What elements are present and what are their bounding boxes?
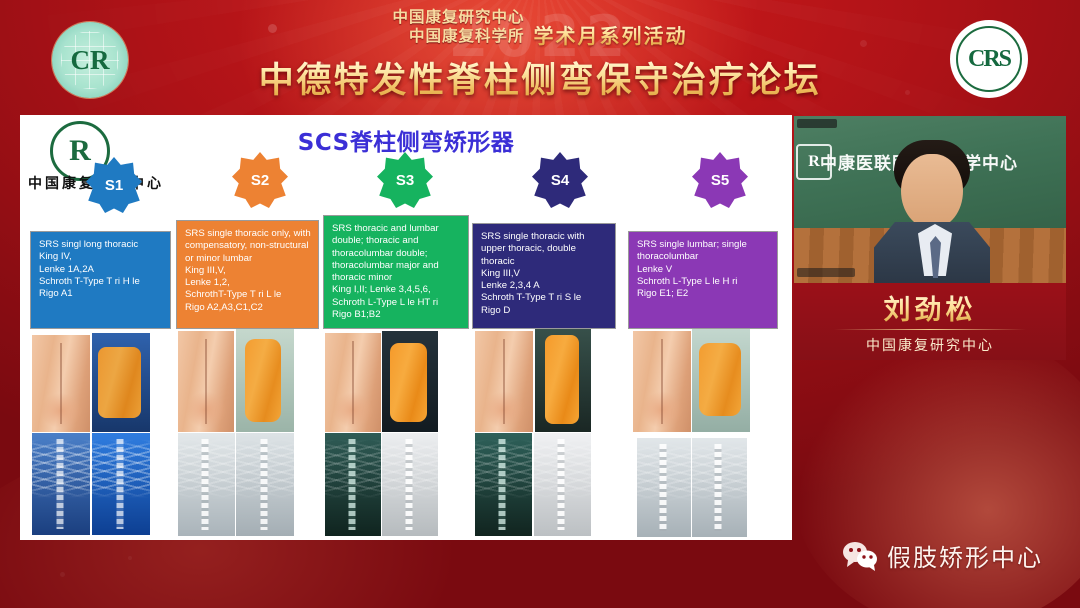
spine-xray-photo	[32, 433, 90, 535]
gear-label-s5: S5	[711, 172, 729, 189]
card-line: King I,II; Lenke 3,4,5,6,	[332, 284, 461, 296]
classification-card-s3: SRS thoracic and lumbar double; thoracic…	[323, 215, 469, 329]
video-overlay-badge-bottomleft	[797, 268, 855, 277]
card-line: thoracolumbar	[637, 251, 770, 263]
braced-scan-photo	[92, 333, 150, 432]
card-line: Schroth L-Type L le HT ri	[332, 297, 461, 309]
spine-xray-photo	[178, 433, 235, 536]
presentation-slide[interactable]: R 中国康复研究中心 SCS脊柱侧弯矫形器 S1 S2 S3 S4 S5 SRS…	[20, 115, 792, 540]
video-overlay-badge-topleft	[797, 119, 837, 128]
spine-xray-photo	[475, 433, 532, 536]
torso-scan-photo	[178, 331, 234, 432]
watermark-text: 假肢矫形中心	[887, 538, 1043, 573]
bokeh-dot	[128, 556, 132, 560]
slide-title: SCS脊柱侧弯矫形器	[20, 123, 792, 157]
spine-xray-photo	[236, 433, 294, 536]
card-line: Rigo A1	[39, 288, 163, 300]
gear-badge-s2: S2	[232, 152, 288, 208]
header-org-line1: 中国康复研究中心	[392, 8, 524, 27]
card-line: Rigo E1; E2	[637, 288, 770, 300]
gear-label-s1: S1	[105, 177, 123, 194]
speaker-affiliation: 中国康复研究中心	[794, 335, 1066, 355]
board-logo-monogram: R	[808, 153, 820, 171]
card-line: King III,V	[481, 268, 608, 280]
card-line: King IV,	[39, 251, 163, 263]
card-line: Schroth L-Type L le H ri	[637, 276, 770, 288]
classification-card-s1: SRS singl long thoracic King IV, Lenke 1…	[30, 231, 171, 329]
braced-scan-photo	[535, 329, 591, 432]
card-line: compensatory, non-structural	[185, 240, 311, 252]
card-line: Lenke 1,2,	[185, 277, 311, 289]
header-subtitle-row: 中国康复研究中心 中国康复科学所 学术月系列活动	[0, 8, 1080, 49]
card-line: Lenke V	[637, 264, 770, 276]
spine-xray-photo	[534, 433, 591, 536]
card-line: Schroth T-Type T ri H le	[39, 276, 163, 288]
card-line: or minor lumbar	[185, 253, 311, 265]
card-line: SRS singl long thoracic	[39, 239, 163, 251]
card-line: Rigo D	[481, 305, 608, 317]
card-line: double; thoracic and	[332, 235, 461, 247]
card-line: SRS single thoracic with	[481, 231, 608, 243]
torso-scan-photo	[32, 335, 90, 432]
face-shape	[901, 154, 963, 228]
screen-root: 2022 CR CRS 中国康复研究中心 中国康复科学所 学术月系列活动 中德特…	[0, 0, 1080, 608]
torso-scan-photo	[325, 333, 381, 432]
card-line: Rigo A2,A3,C1,C2	[185, 302, 311, 314]
card-line: Lenke 1A,2A	[39, 264, 163, 276]
speaker-name: 刘劲松	[794, 288, 1066, 327]
event-title: 中德特发性脊柱侧弯保守治疗论坛	[0, 52, 1080, 103]
gear-label-s4: S4	[551, 172, 569, 189]
card-line: thoracic minor	[332, 272, 461, 284]
speaker-portrait	[880, 140, 984, 283]
card-line: SRS single thoracic only, with	[185, 228, 311, 240]
braced-scan-photo	[382, 331, 438, 432]
card-line: King III,V,	[185, 265, 311, 277]
spine-xray-photo	[637, 438, 691, 537]
classification-card-s5: SRS single lumbar; single thoracolumbar …	[628, 231, 778, 329]
name-divider	[834, 329, 1026, 330]
gear-label-s3: S3	[396, 172, 414, 189]
classification-card-s2: SRS single thoracic only, with compensat…	[176, 220, 319, 329]
braced-scan-photo	[692, 329, 750, 432]
spine-xray-photo	[325, 433, 381, 536]
wechat-icon	[842, 541, 878, 571]
card-line: SRS single lumbar; single	[637, 239, 770, 251]
gear-badge-s5: S5	[692, 152, 748, 208]
spine-xray-photo	[382, 433, 438, 536]
header-org-line2: 中国康复科学所	[392, 27, 524, 46]
card-line: thoracolumbar double;	[332, 248, 461, 260]
gear-label-s2: S2	[251, 172, 269, 189]
card-line: thoracic	[481, 256, 608, 268]
card-line: Lenke 2,3,4 A	[481, 280, 608, 292]
gear-badge-s4: S4	[532, 152, 588, 208]
header-series-label: 学术月系列活动	[534, 20, 688, 49]
card-line: SchrothT-Type T ri L le	[185, 289, 311, 301]
gear-badge-s3: S3	[377, 152, 433, 208]
event-header: 2022 CR CRS 中国康复研究中心 中国康复科学所 学术月系列活动 中德特…	[0, 0, 1080, 110]
card-line: Schroth T-Type T ri S le	[481, 292, 608, 304]
spine-xray-photo	[692, 438, 747, 537]
card-line: SRS thoracic and lumbar	[332, 223, 461, 235]
wechat-watermark: 假肢矫形中心	[842, 538, 1043, 573]
bokeh-dot	[60, 572, 65, 577]
torso-scan-photo	[633, 331, 691, 432]
card-line: upper thoracic, double	[481, 243, 608, 255]
torso-scan-photo	[475, 331, 533, 432]
speaker-video-feed[interactable]: R 中康医联网远程医学中心	[794, 116, 1066, 283]
card-line: thoracolumbar major and	[332, 260, 461, 272]
speaker-name-plate: 刘劲松 中国康复研究中心	[794, 283, 1066, 360]
braced-scan-photo	[236, 329, 294, 432]
card-line: Rigo B1;B2	[332, 309, 461, 321]
spine-xray-photo	[92, 433, 150, 535]
classification-card-s4: SRS single thoracic with upper thoracic,…	[472, 223, 616, 329]
